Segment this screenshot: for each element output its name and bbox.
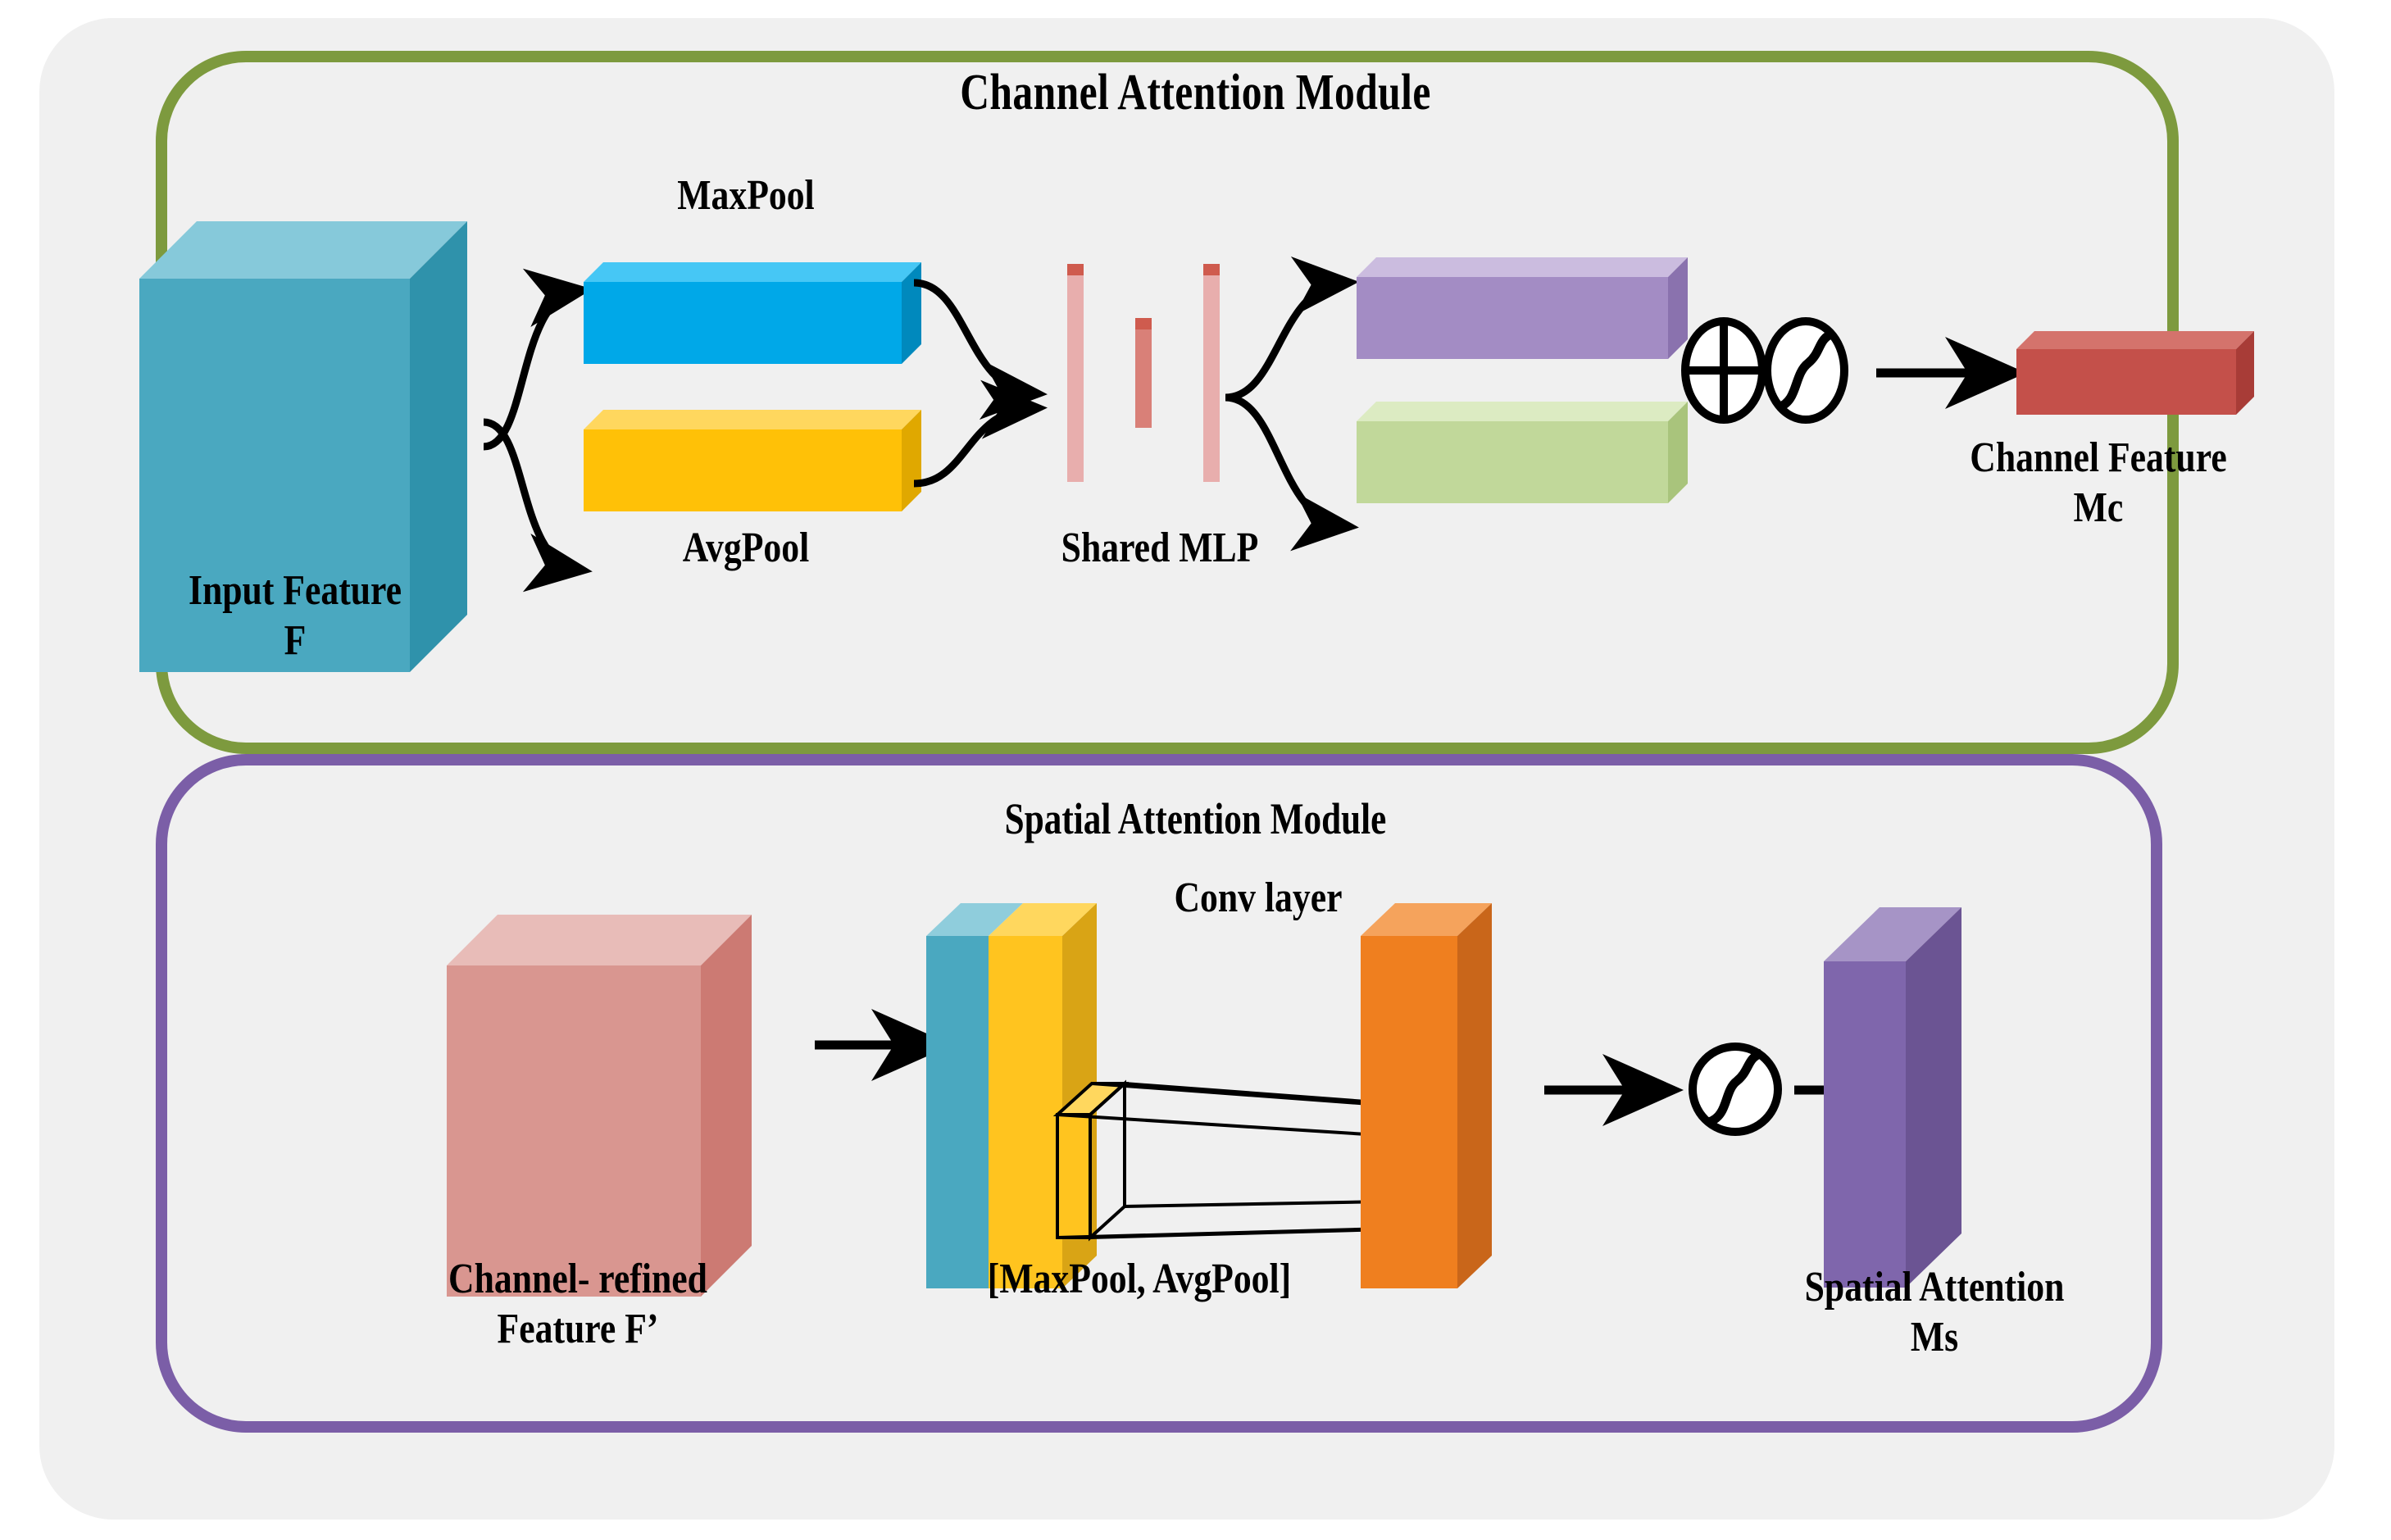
input-feature-label-line2: F xyxy=(284,617,307,664)
mlp-output-green-bar xyxy=(1357,400,1701,507)
spatial-attention-label-line1: Spatial Attention xyxy=(1805,1264,2065,1311)
channel-feature-label: Channel FeatureMc xyxy=(1878,433,2319,534)
mlp-output-purple-bar xyxy=(1357,256,1701,362)
sigmoid-icon-spatial xyxy=(1684,1037,1787,1142)
avgpool-to-mlp-arrow xyxy=(910,393,1074,500)
spatial-attention-output-slab xyxy=(1824,906,2012,1315)
channel-refined-label-line1: Channel- refined xyxy=(448,1256,707,1302)
maxpool-to-mlp-arrow xyxy=(910,270,1074,410)
channel-refined-label-line2: Feature F’ xyxy=(498,1306,659,1352)
channel-refined-feature-label: Channel- refinedFeature F’ xyxy=(337,1254,819,1355)
channel-refined-feature-cube xyxy=(447,902,791,1311)
maxpool-bar xyxy=(584,261,936,367)
avgpool-bar xyxy=(584,408,936,515)
avgpool-label: AvgPool xyxy=(602,523,891,573)
input-feature-label: Input FeatureF xyxy=(116,566,475,666)
element-wise-sum-icon xyxy=(1679,316,1769,426)
pool-concat-label: [MaxPool, AvgPool] xyxy=(878,1254,1401,1304)
spatial-module-title: Spatial Attention Module xyxy=(239,793,2152,844)
spatial-attention-label-line2: Ms xyxy=(1911,1314,1958,1361)
shared-mlp-bars xyxy=(1057,254,1230,492)
spatial-attention-label: Spatial AttentionMs xyxy=(1700,1262,2168,1363)
figure-canvas: Channel Attention Module Input FeatureF … xyxy=(0,0,2391,1540)
maxpool-label: MaxPool xyxy=(602,170,891,220)
channel-feature-bar xyxy=(2016,328,2271,422)
input-feature-label-line1: Input Feature xyxy=(189,567,402,614)
channel-feature-label-line1: Channel Feature xyxy=(1970,434,2226,481)
channel-module-title: Channel Attention Module xyxy=(239,64,2152,122)
conv-output-slab xyxy=(1361,902,1549,1311)
channel-feature-label-line2: Mc xyxy=(2074,484,2124,531)
sigmoid-icon-channel xyxy=(1761,316,1851,426)
